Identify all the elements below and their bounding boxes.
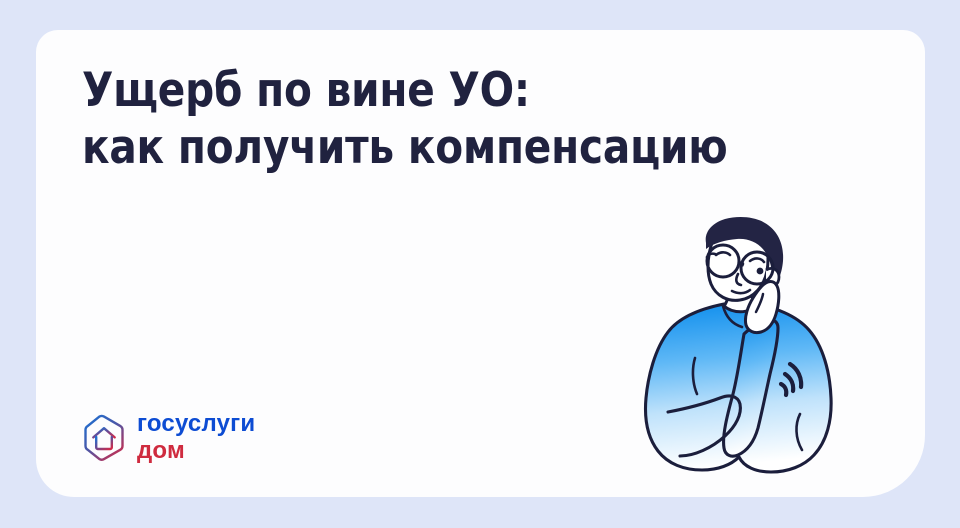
poster-canvas: Ущерб по вине УО: как получить компенсац…	[0, 0, 960, 528]
page-title-line-2: как получить компенсацию	[82, 119, 754, 176]
page-title-line-1: Ущерб по вине УО:	[82, 62, 754, 119]
thinking-person-illustration	[632, 216, 884, 497]
brand-logo[interactable]: госуслуги дом	[82, 412, 255, 463]
content-card: Ущерб по вине УО: как получить компенсац…	[36, 30, 925, 497]
page-title: Ущерб по вине УО: как получить компенсац…	[82, 62, 782, 176]
person-body-group	[646, 217, 832, 472]
brand-logo-wordmark: госуслуги дом	[137, 412, 255, 463]
thinking-person-figure	[632, 216, 884, 497]
eye-right	[757, 268, 764, 275]
house-in-hexagon-icon	[82, 414, 126, 462]
brand-word-gosuslugi: госуслуги	[137, 412, 255, 436]
brand-word-dom: дом	[137, 439, 255, 463]
